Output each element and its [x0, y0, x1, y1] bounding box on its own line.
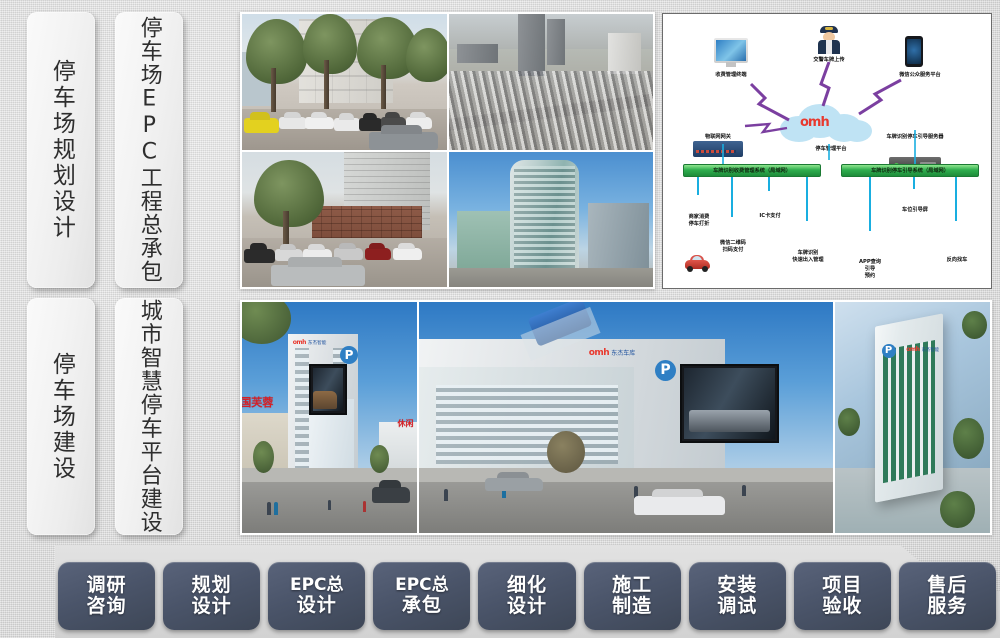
render-garage-facade: omh 东杰车库 P	[419, 302, 833, 533]
step-line2: 验收	[822, 596, 862, 617]
step-line1: EPC总	[395, 576, 449, 595]
connector	[731, 177, 733, 217]
step-line2: 咨询	[87, 596, 127, 617]
card-label: 停车场建设	[48, 352, 75, 482]
space-guidance-label: 车位引导屏	[885, 207, 945, 214]
card-parking-epc-contract[interactable]: 停车场EPC工程总承包	[115, 12, 183, 288]
step-planning-design[interactable]: 规划 设计	[163, 562, 260, 630]
step-line1: EPC总	[290, 576, 344, 595]
step-line1: 细化	[507, 575, 547, 596]
photo-surface-parking-lot-trees	[242, 14, 447, 150]
step-epc-general-contract[interactable]: EPC总 承包	[373, 562, 470, 630]
merchant-discount-label: 商家消费 停车打折	[671, 214, 727, 228]
parking-system-architecture-diagram: omh 停车管理平台 收费管理终端 交警车牌上传 微信公众服务平台 物联网网关 …	[662, 13, 992, 289]
sign-xiuxian: 休闲	[398, 418, 414, 429]
brand-logo: omh 东杰智能	[906, 346, 939, 353]
connector	[697, 177, 699, 195]
step-line1: 调研	[87, 575, 127, 596]
brand-latin: omh	[293, 339, 306, 346]
step-line2: 设计	[192, 596, 232, 617]
step-line2: 制造	[612, 596, 652, 617]
render-tower-garage-street-view: P omh 东杰智能 国芙蓉 休闲	[242, 302, 417, 533]
step-research-consulting[interactable]: 调研 咨询	[58, 562, 155, 630]
process-steps-bar: 调研 咨询 规划 设计 EPC总 设计 EPC总 承包 细化 设计 施工 制造 …	[58, 560, 996, 632]
step-line2: 设计	[297, 595, 337, 616]
connector	[869, 177, 871, 231]
brand-cn: 东杰智能	[308, 340, 326, 346]
brand-latin: omh	[589, 348, 609, 358]
sign-guofurong: 国芙蓉	[242, 394, 273, 410]
step-line1: 施工	[612, 575, 652, 596]
step-line2: 服务	[927, 596, 967, 617]
photo-grid	[240, 12, 655, 289]
step-epc-overall-design[interactable]: EPC总 设计	[268, 562, 365, 630]
card-label: 城市智慧停车平台建设	[136, 299, 162, 534]
photo-parking-lot-brick-building	[242, 152, 447, 288]
p-sign: P	[340, 346, 358, 364]
red-car-icon	[685, 255, 710, 272]
brand-logo: omh 东杰车库	[589, 348, 635, 358]
step-line2: 承包	[402, 595, 442, 616]
step-line1: 项目	[822, 575, 862, 596]
step-line1: 规划	[192, 575, 232, 596]
card-parking-construction[interactable]: 停车场建设	[27, 298, 95, 535]
photo-modern-office-tower	[449, 152, 654, 288]
photo-aerial-parking-rows	[449, 14, 654, 150]
brand-cn: 东杰车库	[611, 348, 635, 357]
step-project-acceptance[interactable]: 项目 验收	[794, 562, 891, 630]
step-line1: 售后	[927, 575, 967, 596]
connector	[913, 177, 915, 189]
step-detailed-design[interactable]: 细化 设计	[478, 562, 575, 630]
step-construction-manufacturing[interactable]: 施工 制造	[584, 562, 681, 630]
step-installation-commissioning[interactable]: 安装 调试	[689, 562, 786, 630]
connector	[768, 177, 770, 191]
connector	[955, 177, 957, 221]
p-sign: P	[655, 360, 676, 381]
architectural-render-strip: P omh 东杰智能 国芙蓉 休闲 omh 东杰车库 P	[240, 300, 992, 535]
card-label: 停车场EPC工程总承包	[136, 16, 162, 284]
card-parking-planning-design[interactable]: 停车场规划设计	[27, 12, 95, 288]
connector	[806, 177, 808, 221]
brand-logo: omh 东杰智能	[293, 339, 327, 346]
step-after-sales-service[interactable]: 售后 服务	[899, 562, 996, 630]
app-query-label: APP查询 引导 预约	[845, 259, 895, 280]
render-aerial-tower: P omh 东杰智能	[835, 302, 990, 533]
brand-latin: omh	[906, 346, 919, 353]
ic-card-label: IC卡支付	[747, 213, 793, 220]
card-label: 停车场规划设计	[48, 59, 75, 241]
system-box-parking-guidance: 车牌识别停车引导系统（局域网）	[841, 164, 979, 177]
reverse-find-label: 反向找车	[931, 257, 983, 264]
card-smart-city-platform[interactable]: 城市智慧停车平台建设	[115, 298, 183, 535]
plate-entry-exit-label: 车牌识别 快速出入管理	[775, 250, 841, 264]
step-line2: 设计	[507, 596, 547, 617]
step-line1: 安装	[717, 575, 757, 596]
system-box-toll-management: 车牌识别收费管理系统（局域网）	[683, 164, 821, 177]
step-line2: 调试	[717, 596, 757, 617]
wechat-qr-label: 微信二维码 扫码支付	[703, 240, 763, 254]
brand-cn: 东杰智能	[921, 347, 939, 353]
p-sign: P	[882, 344, 896, 358]
